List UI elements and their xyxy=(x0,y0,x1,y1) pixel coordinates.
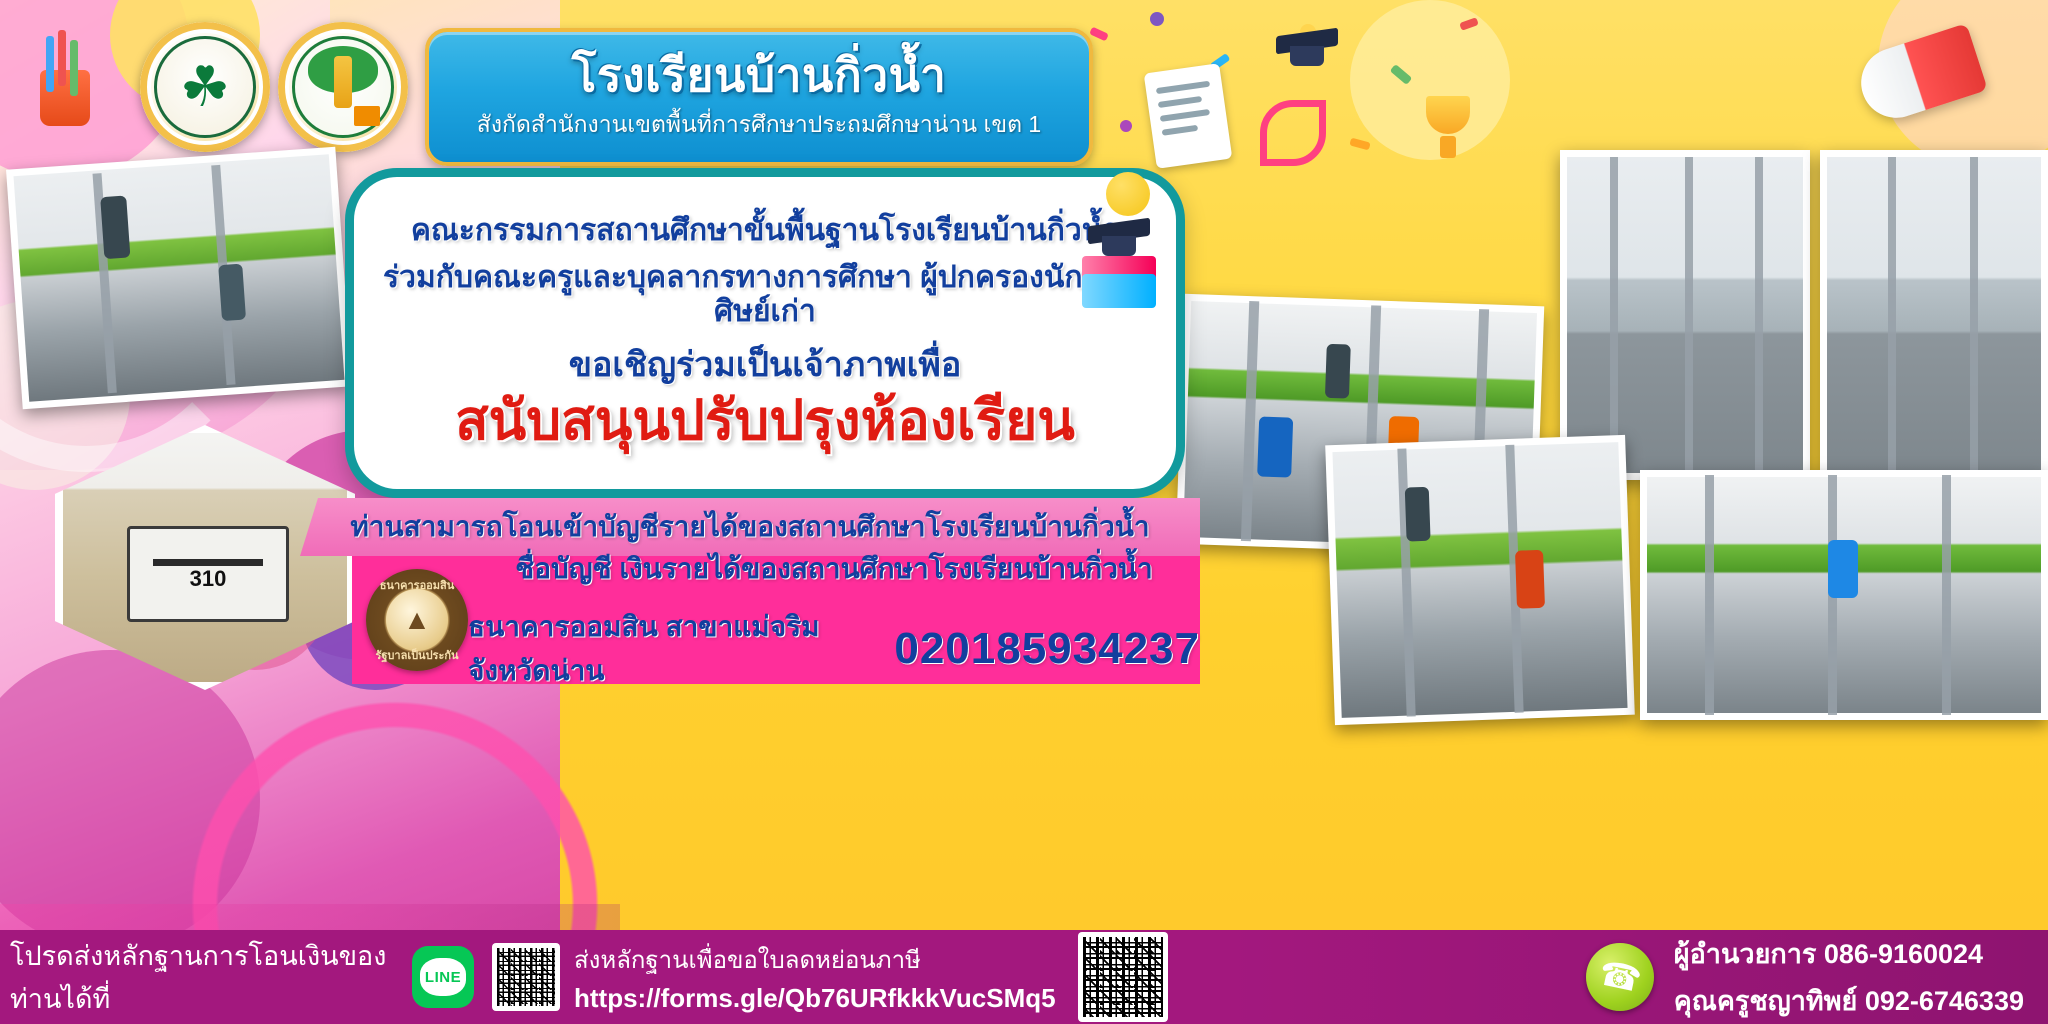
contact-teacher: คุณครูชญาทิพย์ 092-6746339 xyxy=(1674,979,2024,1022)
phone-icon: ☎ xyxy=(1586,943,1654,1011)
gsb-logo-emblem: ▲ xyxy=(386,589,448,651)
line-icon-label: LINE xyxy=(425,969,461,986)
main-message-panel: คณะกรรมการสถานศึกษาขั้นพื้นฐานโรงเรียนบ้… xyxy=(345,168,1185,498)
message-line-2: ร่วมกับคณะครูและบุคลากรทางการศึกษา ผู้ปก… xyxy=(378,261,1152,330)
line-app-icon[interactable]: LINE xyxy=(412,946,474,1008)
document-doodle-icon xyxy=(1144,63,1233,169)
photo-classroom-frame-2 xyxy=(1820,150,2048,480)
forms-qr-code[interactable] xyxy=(1078,932,1168,1022)
material-price-label: 310 xyxy=(127,526,289,622)
material-price-value: 310 xyxy=(190,566,227,592)
pencil-cup-icon xyxy=(40,70,90,126)
footer-proof-section: โปรดส่งหลักฐานการโอนเงินของท่านได้ที่ LI… xyxy=(0,934,560,1020)
message-line-3: ขอเชิญร่วมเป็นเจ้าภาพเพื่อ xyxy=(569,346,962,385)
message-line-1: คณะกรรมการสถานศึกษาขั้นพื้นฐานโรงเรียนบ้… xyxy=(411,214,1119,249)
photo-classroom-frame-4 xyxy=(1640,470,2048,720)
footer-contact-section: ☎ ผู้อำนวยการ 086-9160024 คุณครูชญาทิพย์… xyxy=(1586,932,2048,1022)
footer-bar: โปรดส่งหลักฐานการโอนเงินของท่านได้ที่ LI… xyxy=(0,930,2048,1024)
gsb-logo-top-text: ธนาคารออมสิน xyxy=(366,576,468,594)
photo-classroom-frame-3 xyxy=(1325,435,1635,725)
header-banner: โรงเรียนบ้านกิ่วน้ำ สังกัดสำนักงานเขตพื้… xyxy=(425,28,1093,166)
gsb-bank-logo-icon: ธนาคารออมสิน ▲ รัฐบาลเป็นประกัน xyxy=(366,569,468,671)
contact-director: ผู้อำนวยการ 086-9160024 xyxy=(1674,932,2024,975)
line-qr-code[interactable] xyxy=(492,943,560,1011)
photo-classroom-frame-1 xyxy=(1560,150,1810,480)
forms-label: ส่งหลักฐานเพื่อขอใบลดหย่อนภาษี xyxy=(574,940,1056,979)
transfer-notice-text: ท่านสามารถโอนเข้าบัญชีรายได้ของสถานศึกษา… xyxy=(350,505,1149,549)
account-number: 020185934237 xyxy=(894,624,1200,674)
poster-root: ☘ โรงเรียนบ้านกิ่วน้ำ สังกัดสำนักงานเขตพ… xyxy=(0,0,2048,1024)
contact-phone-list: ผู้อำนวยการ 086-9160024 คุณครูชญาทิพย์ 0… xyxy=(1674,932,2024,1022)
bank-account-details: ชื่อบัญชี เงินรายได้ของสถานศึกษาโรงเรียน… xyxy=(468,547,1200,693)
footer-forms-text-group: ส่งหลักฐานเพื่อขอใบลดหย่อนภาษี https://f… xyxy=(574,940,1056,1014)
graduation-cap-icon xyxy=(1276,18,1338,80)
account-bank-row: ธนาคารออมสิน สาขาแม่จริม จังหวัดน่าน 020… xyxy=(468,605,1200,693)
headline-support-classroom: สนับสนุนปรับปรุงห้องเรียน xyxy=(455,389,1075,452)
footer-proof-text: โปรดส่งหลักฐานการโอนเงินของท่านได้ที่ xyxy=(10,934,394,1020)
forms-url-link[interactable]: https://forms.gle/Qb76URfkkkVucSMq5 xyxy=(574,983,1056,1014)
garuda-glyph: ☘ xyxy=(180,59,230,115)
footer-forms-section: ส่งหลักฐานเพื่อขอใบลดหย่อนภาษี https://f… xyxy=(560,932,1586,1022)
page-subtitle: สังกัดสำนักงานเขตพื้นที่การศึกษาประถมศึก… xyxy=(477,107,1041,143)
trophy-icon xyxy=(1420,96,1476,160)
account-bank-branch: ธนาคารออมสิน สาขาแม่จริม จังหวัดน่าน xyxy=(468,605,848,693)
account-name: ชื่อบัญชี เงินรายได้ของสถานศึกษาโรงเรียน… xyxy=(515,547,1153,591)
nan-area1-logo xyxy=(278,22,408,152)
gsb-logo-bottom-text: รัฐบาลเป็นประกัน xyxy=(366,646,468,664)
bank-account-block: ธนาคารออมสิน ▲ รัฐบาลเป็นประกัน ชื่อบัญช… xyxy=(352,556,1200,684)
obec-garuda-logo: ☘ xyxy=(140,22,270,152)
page-title: โรงเรียนบ้านกิ่วน้ำ xyxy=(572,51,947,99)
photo-classroom-scaffold-1 xyxy=(6,147,352,409)
